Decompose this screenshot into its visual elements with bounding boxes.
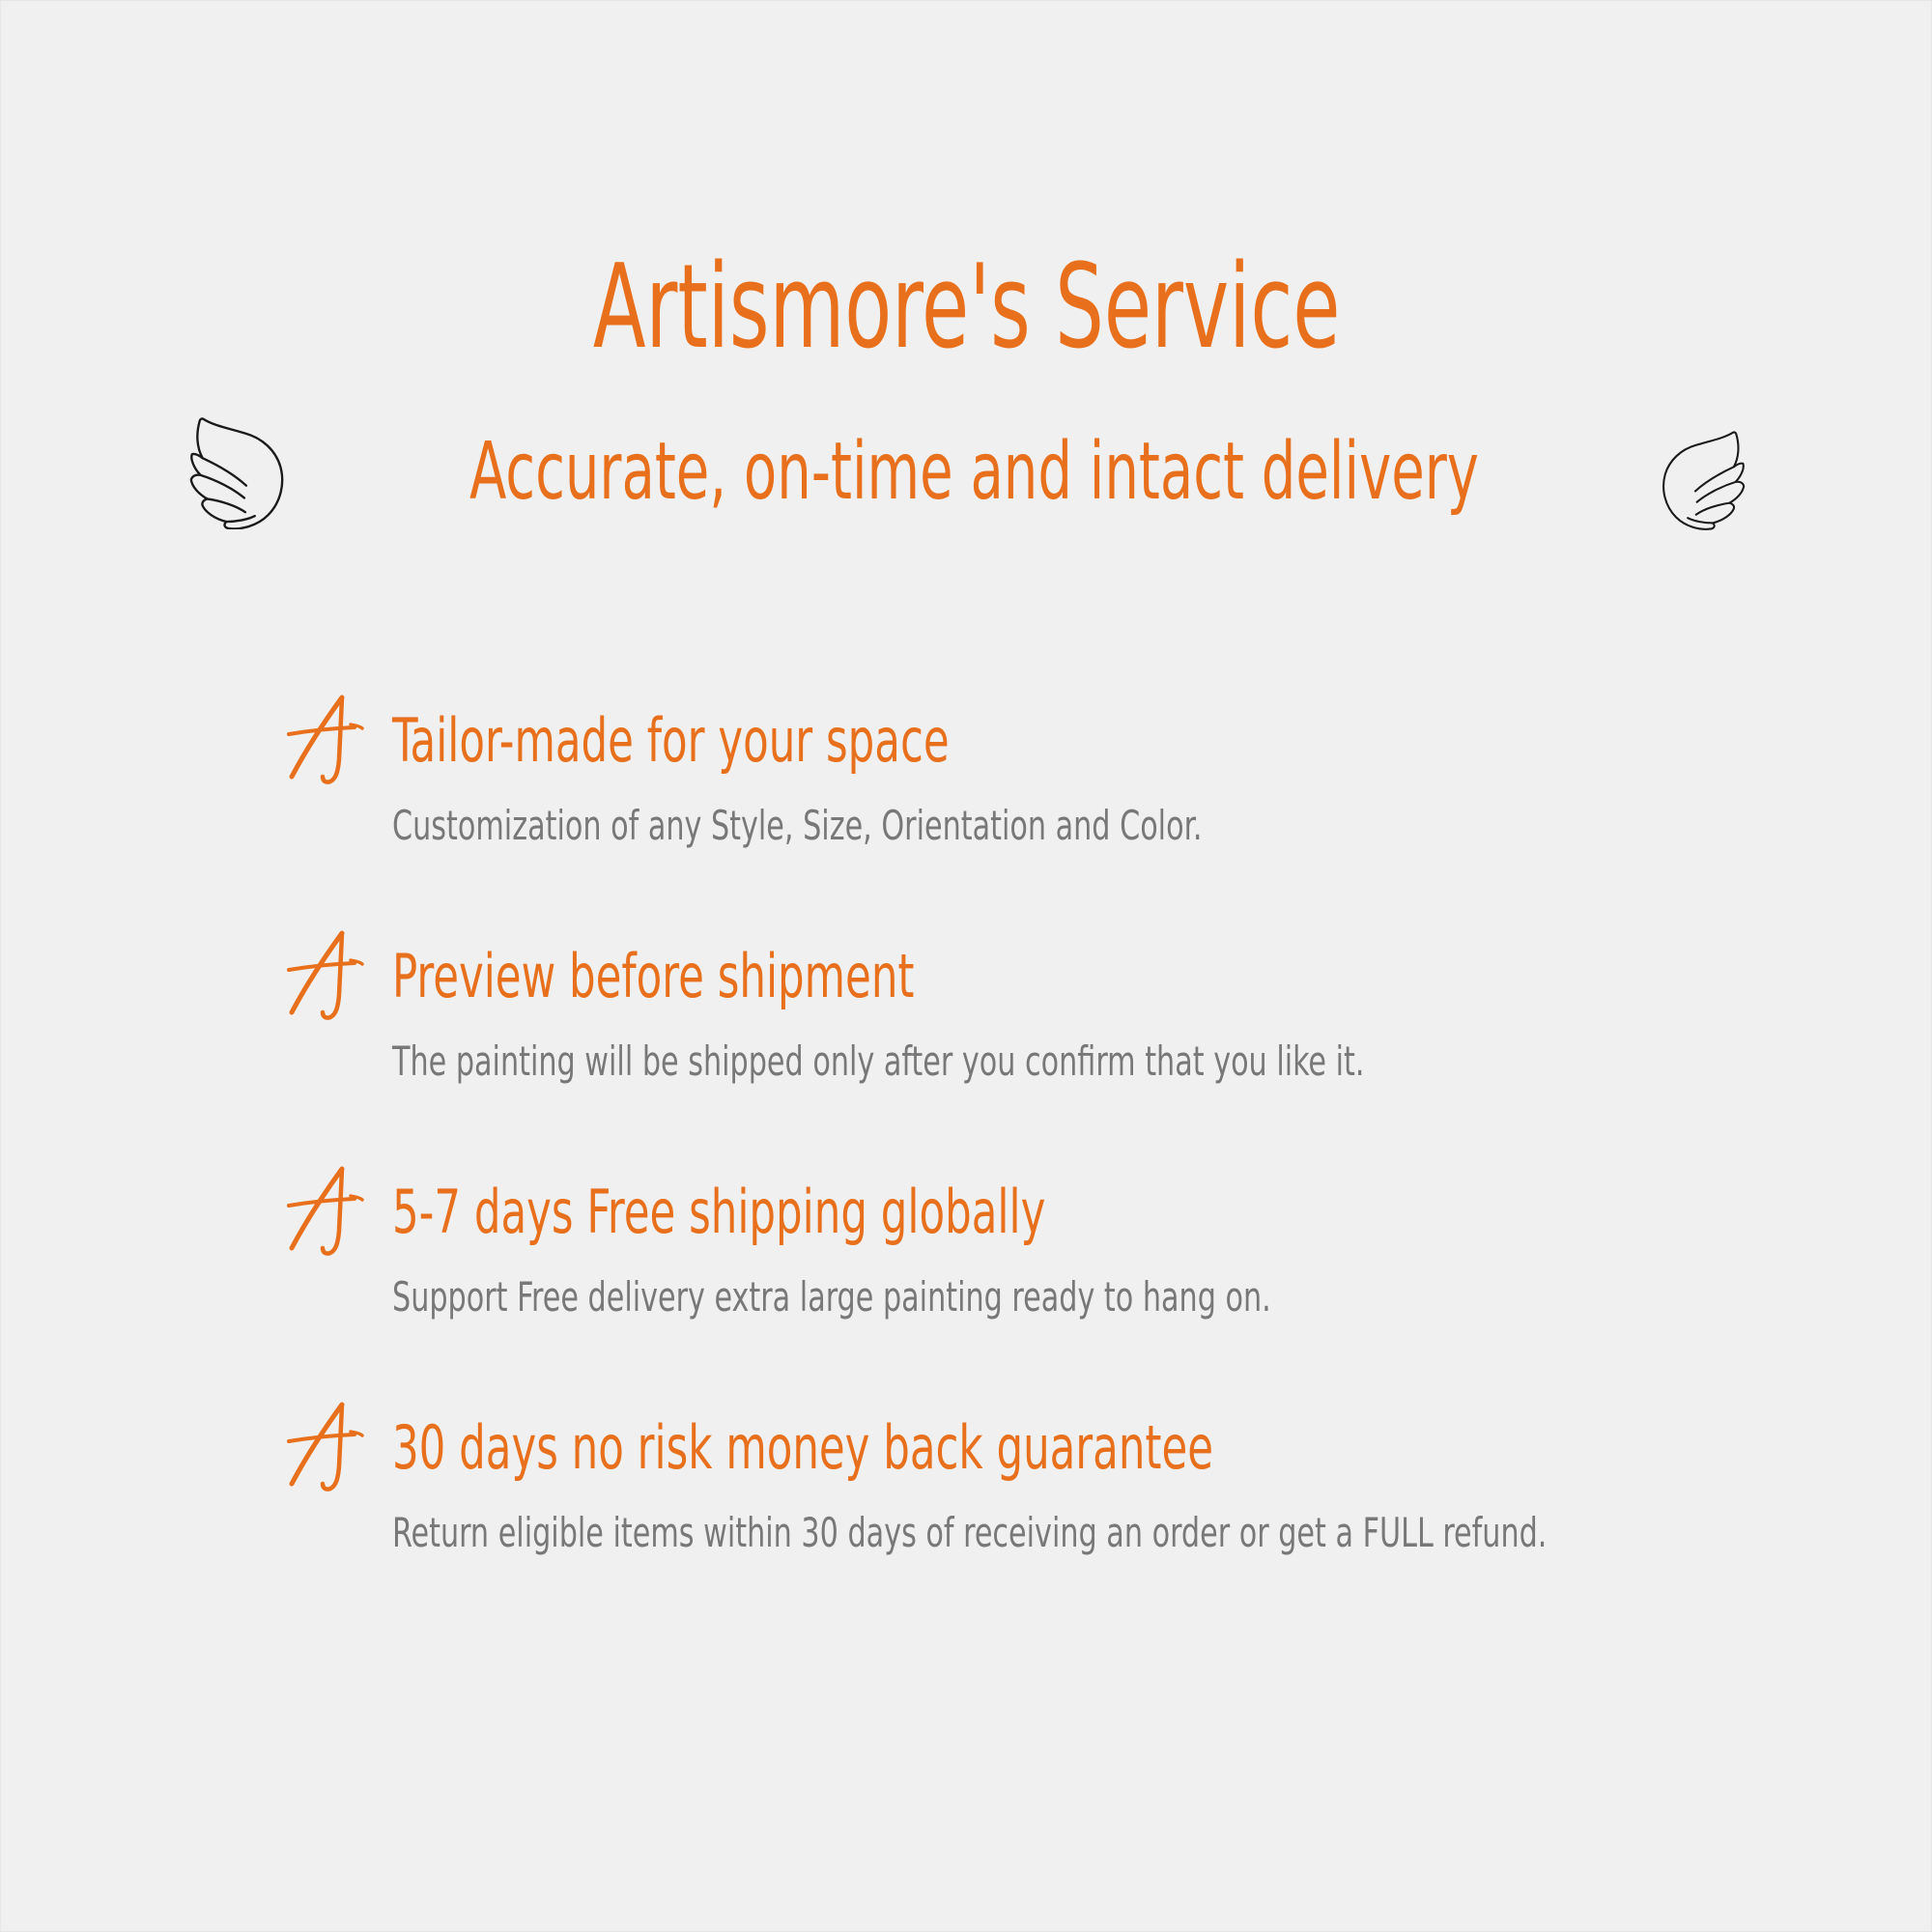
subtitle-text: Accurate, on-time and intact delivery [469, 433, 1479, 512]
script-a-icon [281, 925, 370, 1026]
feature-list: Tailor-made for your space Customization… [281, 711, 1846, 1553]
subtitle-row: Accurate, on-time and intact delivery [1, 395, 1932, 550]
script-a-icon [281, 1161, 370, 1262]
script-a-icon [281, 1397, 370, 1497]
feature-item-tailor-made: Tailor-made for your space Customization… [281, 711, 1846, 846]
feature-body: Tailor-made for your space Customization… [392, 711, 1846, 846]
page-title: Artismore's Service [593, 250, 1341, 366]
wing-left-icon [183, 406, 297, 529]
feature-description: The painting will be shipped only after … [392, 1041, 1555, 1082]
service-info-banner: Artismore's Service Accurate, on-time an… [0, 0, 1932, 1932]
feature-description: Customization of any Style, Size, Orient… [392, 806, 1555, 846]
feature-heading: Preview before shipment [392, 947, 1526, 1007]
script-a-icon [281, 690, 370, 790]
feature-heading: Tailor-made for your space [392, 711, 1526, 771]
wing-right-icon [1651, 419, 1751, 531]
feature-item-preview: Preview before shipment The painting wil… [281, 947, 1846, 1082]
feature-item-free-shipping: 5-7 days Free shipping globally Support … [281, 1182, 1846, 1318]
feature-item-money-back: 30 days no risk money back guarantee Ret… [281, 1418, 1846, 1553]
feature-body: 30 days no risk money back guarantee Ret… [392, 1418, 1846, 1553]
feature-heading: 30 days no risk money back guarantee [392, 1418, 1526, 1478]
feature-body: Preview before shipment The painting wil… [392, 947, 1846, 1082]
feature-description: Return eligible items within 30 days of … [392, 1513, 1555, 1553]
feature-description: Support Free delivery extra large painti… [392, 1277, 1555, 1318]
feature-body: 5-7 days Free shipping globally Support … [392, 1182, 1846, 1318]
feature-heading: 5-7 days Free shipping globally [392, 1182, 1526, 1242]
